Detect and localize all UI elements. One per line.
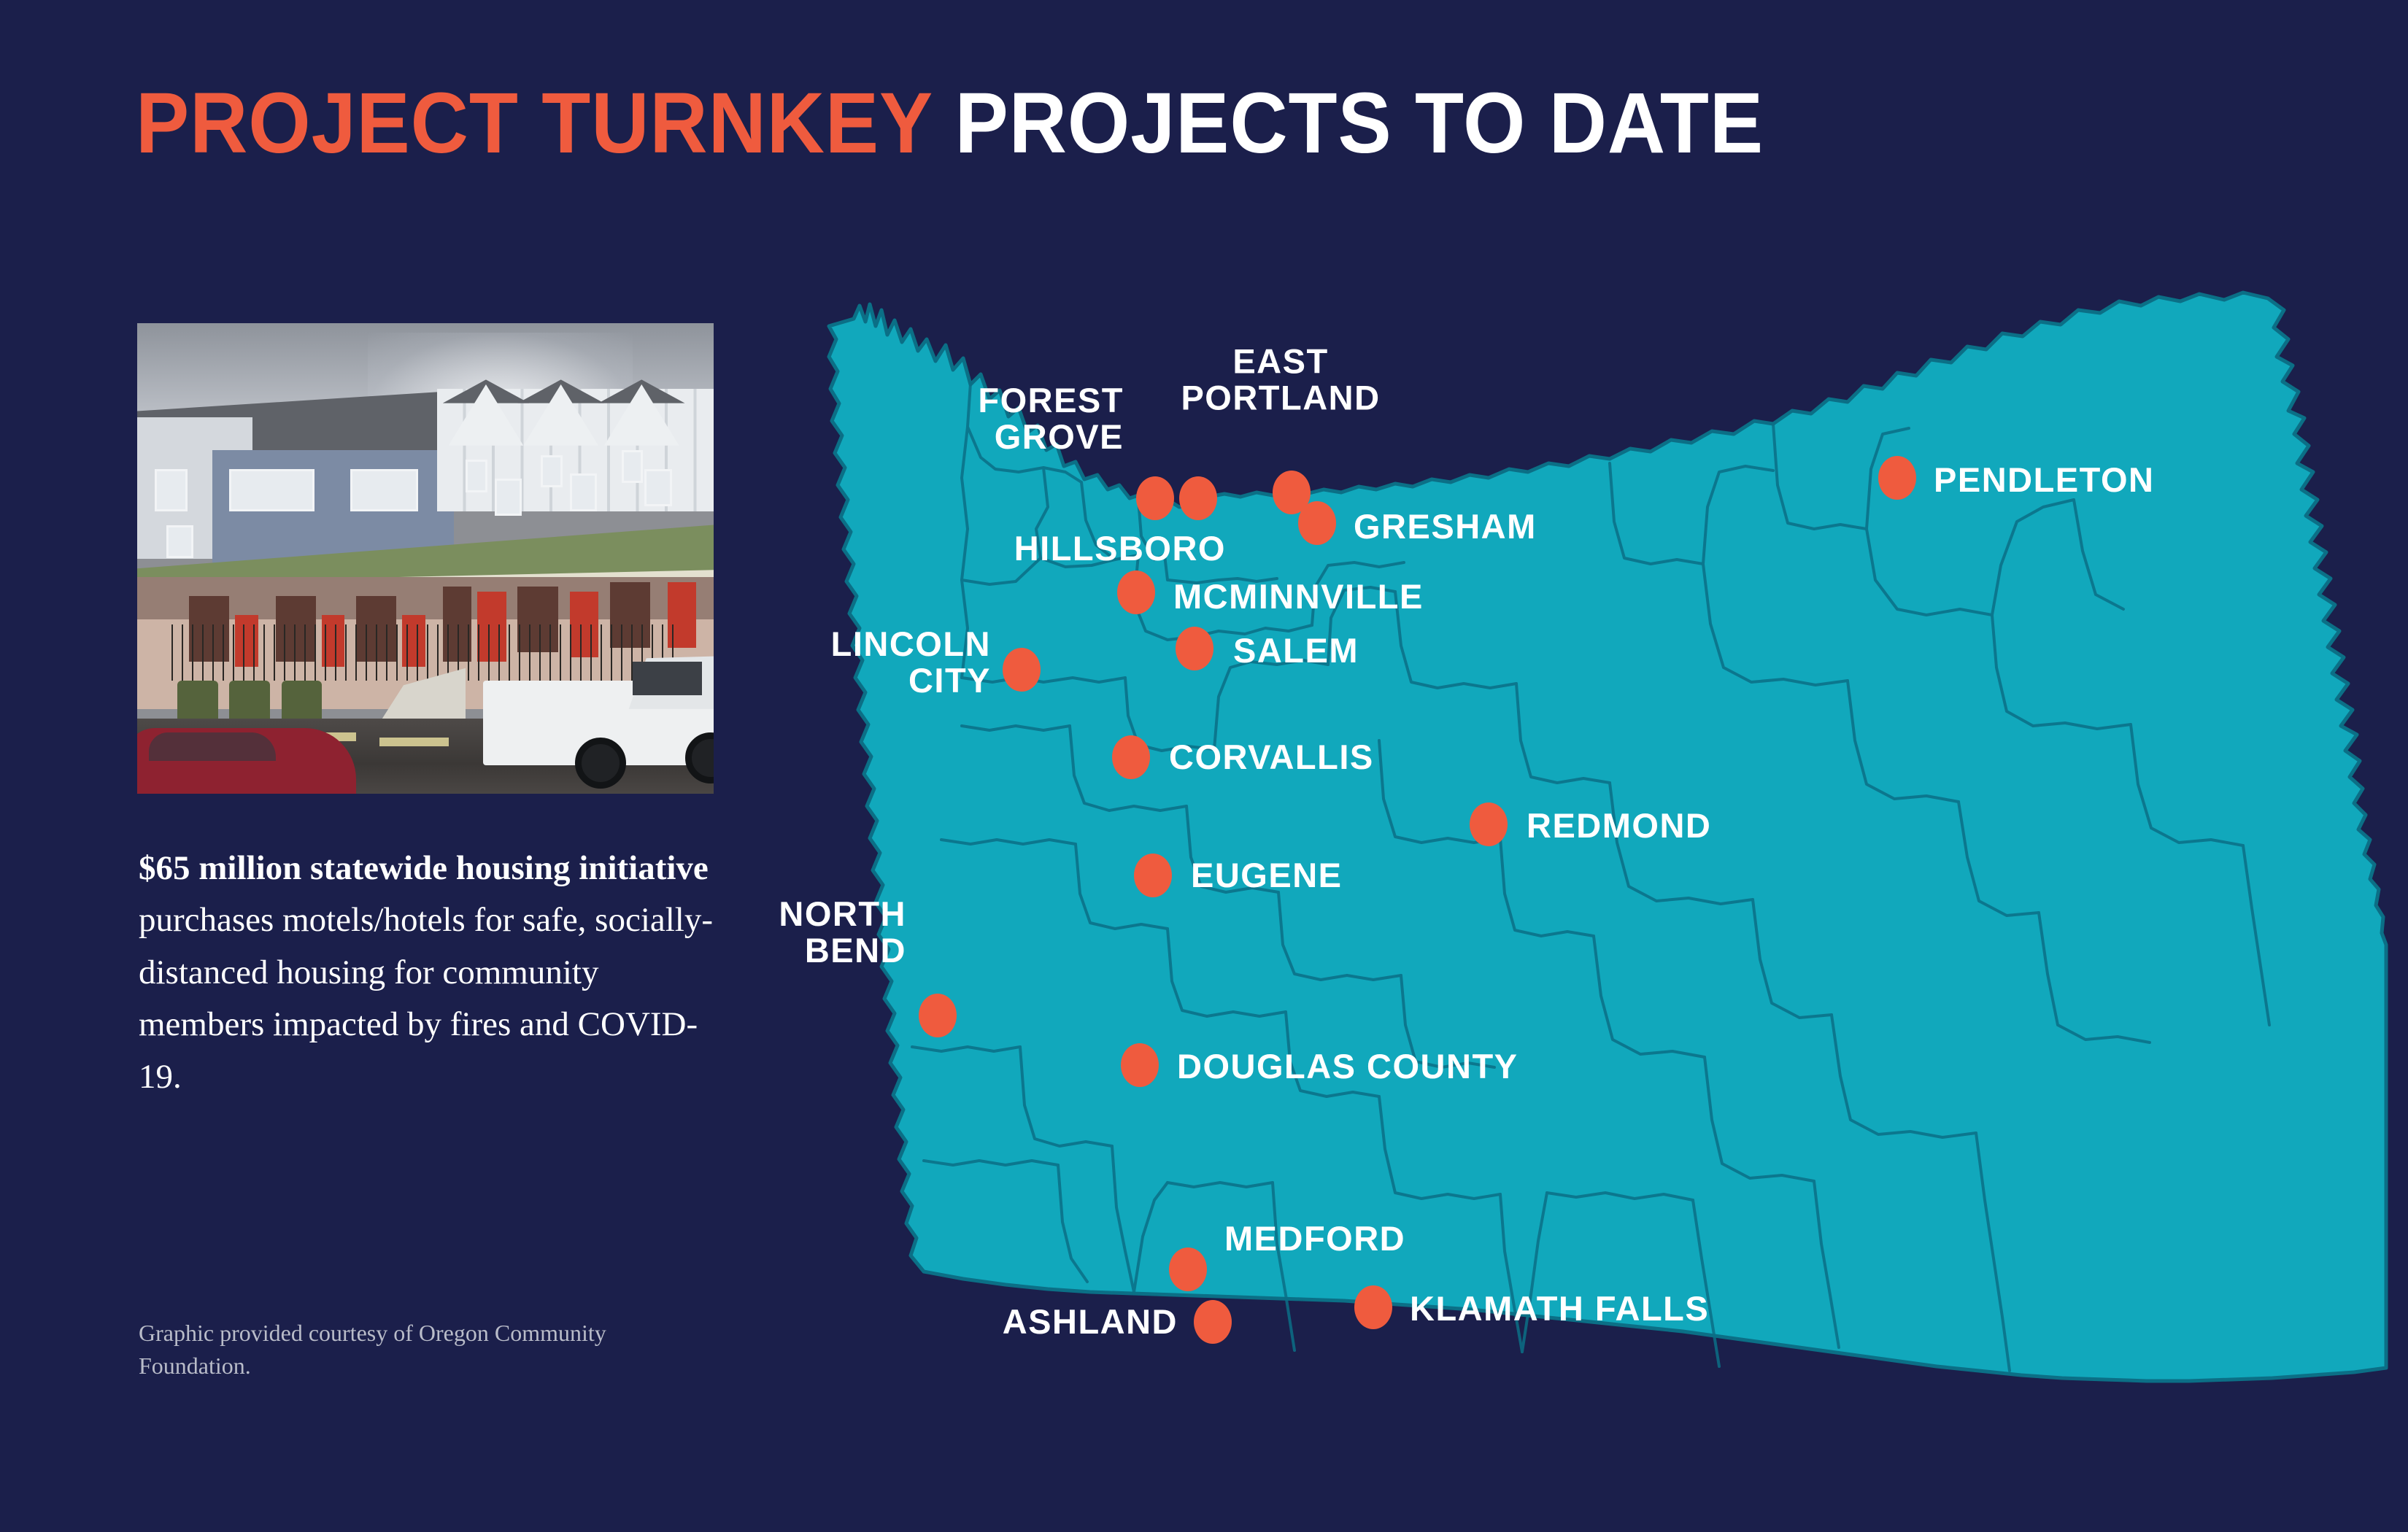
map-pin[interactable] xyxy=(1298,501,1336,545)
photo-shrub xyxy=(282,681,322,723)
motel-photo xyxy=(137,323,714,794)
map-label: ASHLAND xyxy=(1003,1304,1178,1340)
lede-rest: purchases motels/hotels for safe, social… xyxy=(139,901,713,1095)
photo-window xyxy=(350,469,418,511)
map-label: GRESHAM xyxy=(1354,508,1537,545)
title-brand: PROJECT TURNKEY xyxy=(136,75,932,171)
photo-window xyxy=(541,455,563,488)
photo-truck-wheel xyxy=(575,738,626,789)
infographic-root: PROJECT TURNKEY PROJECTS TO DATE xyxy=(0,0,2408,1532)
map-pin[interactable] xyxy=(1470,802,1508,846)
photo-window xyxy=(570,473,598,511)
photo-window xyxy=(155,469,188,511)
map-pin[interactable] xyxy=(1136,476,1174,520)
map-pin[interactable] xyxy=(1176,627,1213,670)
photo-window xyxy=(229,469,314,511)
map-label: NORTH BEND xyxy=(779,896,906,969)
title-rest: PROJECTS TO DATE xyxy=(932,75,1764,171)
photo-truck-window xyxy=(633,662,702,695)
photo-window xyxy=(466,460,487,492)
map-pin[interactable] xyxy=(1354,1285,1392,1329)
oregon-map: FOREST GROVEHILLSBOROEAST PORTLANDGRESHA… xyxy=(825,288,2401,1426)
page-title: PROJECT TURNKEY PROJECTS TO DATE xyxy=(136,80,1764,166)
map-pin[interactable] xyxy=(1134,854,1172,897)
map-label: FOREST GROVE xyxy=(978,382,1124,455)
photo-window xyxy=(495,479,522,516)
photo-shrub xyxy=(177,681,217,723)
map-pin[interactable] xyxy=(1179,476,1217,520)
lede-bold: $65 million statewide housing initiative xyxy=(139,849,709,887)
map-pin[interactable] xyxy=(1194,1300,1232,1344)
map-pin[interactable] xyxy=(1169,1247,1207,1291)
map-pin[interactable] xyxy=(919,994,957,1037)
map-label: HILLSBORO xyxy=(1014,530,1226,567)
photo-curb xyxy=(379,738,449,746)
map-label: EUGENE xyxy=(1191,857,1343,894)
map-label: PENDLETON xyxy=(1934,462,2155,498)
map-label: REDMOND xyxy=(1527,808,1711,844)
photo-window xyxy=(622,450,644,483)
map-pin[interactable] xyxy=(1117,570,1155,614)
map-label: SALEM xyxy=(1233,632,1359,669)
oregon-map-svg xyxy=(825,288,2401,1426)
map-label: MEDFORD xyxy=(1224,1220,1405,1257)
map-pin[interactable] xyxy=(1121,1043,1159,1087)
photo-railing xyxy=(171,624,679,681)
photo-credit: Graphic provided courtesy of Oregon Comm… xyxy=(139,1317,715,1383)
map-pin[interactable] xyxy=(1003,648,1041,692)
map-label: KLAMATH FALLS xyxy=(1410,1291,1709,1327)
map-label: DOUGLAS COUNTY xyxy=(1177,1048,1518,1085)
map-label: LINCOLN CITY xyxy=(831,626,991,699)
map-pin[interactable] xyxy=(1878,456,1916,500)
map-pin[interactable] xyxy=(1112,735,1150,779)
lede-paragraph: $65 million statewide housing initiative… xyxy=(139,843,722,1103)
photo-shrub xyxy=(229,681,269,723)
map-label: CORVALLIS xyxy=(1169,739,1374,775)
map-label: MCMINNVILLE xyxy=(1173,579,1424,615)
photo-car-window xyxy=(149,732,276,761)
map-label: EAST PORTLAND xyxy=(1181,343,1380,416)
photo-window xyxy=(166,525,194,558)
photo-window xyxy=(644,469,672,506)
